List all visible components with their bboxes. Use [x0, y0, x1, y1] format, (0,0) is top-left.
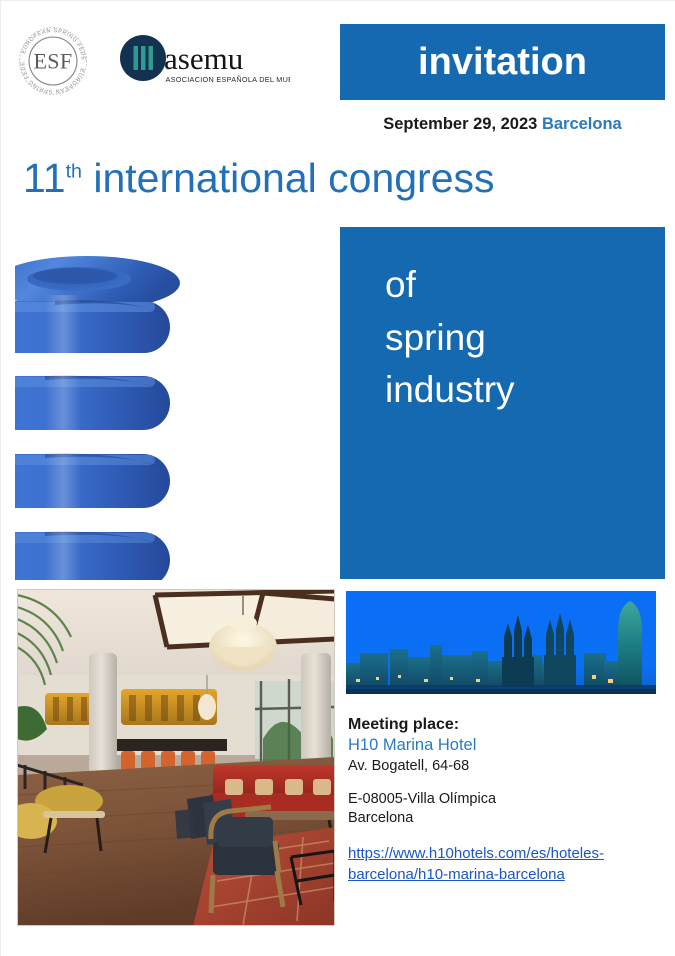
hotel-street: Av. Bogatell, 64-68 [348, 757, 663, 776]
topic-lines: of spring industry [385, 259, 515, 417]
title-ordinal-suffix: th [66, 160, 82, 182]
svg-text:ASOCIACION ESPAÑOLA DEL MUELLE: ASOCIACION ESPAÑOLA DEL MUELLE [166, 75, 291, 84]
esf-seal-icon: EUROPEAN SPRING FEDERATION EUROPEAN SPRI… [15, 23, 91, 99]
event-city: Barcelona [542, 115, 622, 133]
hotel-lobby-photo [17, 589, 335, 926]
event-date: September 29, 2023 [383, 115, 537, 133]
hotel-city: Barcelona [348, 809, 663, 828]
asemu-logo-icon: asemu ASOCIACION ESPAÑOLA DEL MUELLE [115, 33, 290, 91]
meeting-place-block: Meeting place: H10 Marina Hotel Av. Boga… [348, 714, 663, 885]
topic-line-1: of [385, 259, 515, 312]
hotel-url-line-2[interactable]: barcelona/h10-marina-barcelona [348, 866, 565, 883]
event-date-line: September 29, 2023 Barcelona [340, 115, 665, 134]
topic-line-3: industry [385, 364, 515, 417]
invitation-page: EUROPEAN SPRING FEDERATION EUROPEAN SPRI… [0, 0, 675, 956]
svg-text:ESF: ESF [33, 49, 72, 74]
title-text: international congress [93, 155, 494, 201]
meeting-place-heading: Meeting place: [348, 714, 663, 735]
barcelona-skyline-photo [346, 591, 656, 694]
hotel-url-line-1[interactable]: https://www.h10hotels.com/es/hoteles- [348, 845, 604, 862]
hotel-url-wrapper[interactable]: https://www.h10hotels.com/es/hoteles- ba… [348, 844, 663, 885]
spacer [348, 776, 663, 790]
page-title: 11th international congress [23, 157, 495, 200]
topic-panel: of spring industry [340, 227, 665, 579]
title-number: 11 [23, 155, 66, 201]
hotel-postal-area: E-08005-Villa Olímpica [348, 790, 663, 809]
blue-coil-spring-photo [15, 235, 186, 580]
topic-line-2: spring [385, 312, 515, 365]
svg-text:asemu: asemu [164, 41, 243, 76]
invitation-label: invitation [418, 43, 587, 81]
hotel-name: H10 Marina Hotel [348, 735, 663, 757]
invitation-banner: invitation [340, 24, 665, 100]
